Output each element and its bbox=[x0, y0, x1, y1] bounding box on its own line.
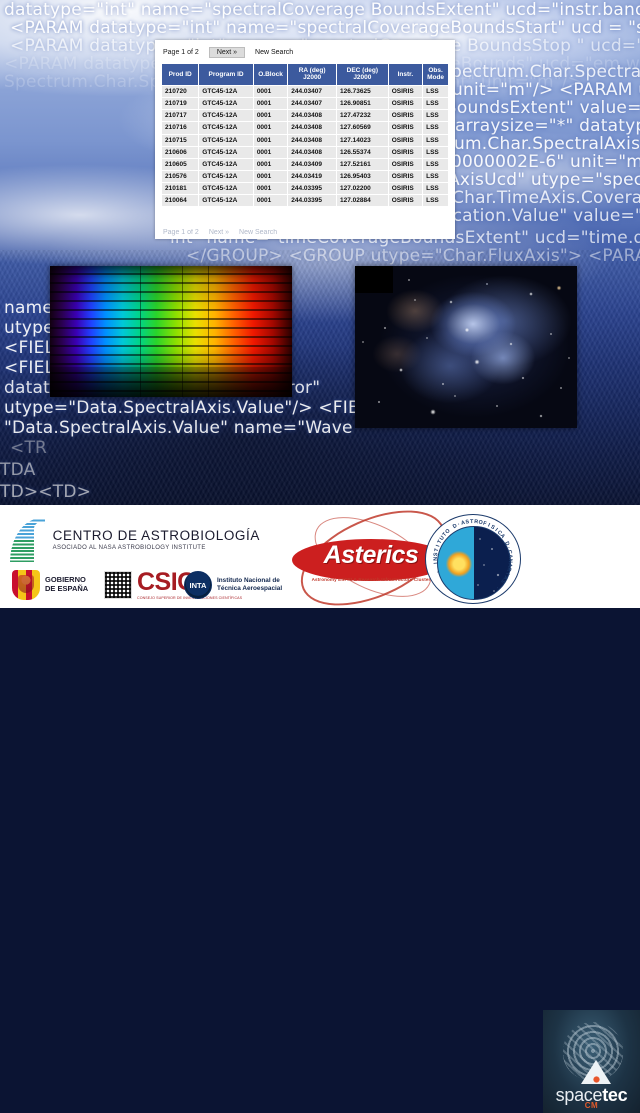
spectrum-image[interactable] bbox=[50, 266, 292, 397]
sponsor-logo-bar: CENTRO DE ASTROBIOLOGÍA ASOCIADO AL NASA… bbox=[0, 505, 640, 608]
table-cell: 127.52161 bbox=[337, 158, 389, 170]
table-cell: 244.03395 bbox=[288, 195, 337, 207]
cab-arch-icon bbox=[10, 516, 45, 562]
table-cell: 127.02884 bbox=[337, 195, 389, 207]
table-cell: OSIRIS bbox=[388, 195, 422, 207]
table-cell: GTC45-12A bbox=[199, 122, 254, 134]
table-cell: LSS bbox=[423, 98, 449, 110]
table-cell: LSS bbox=[423, 183, 449, 195]
col-instrument[interactable]: Instr. bbox=[388, 64, 422, 86]
inta-line1: Instituto Nacional de bbox=[217, 577, 282, 585]
iac-ring-char: R bbox=[505, 567, 512, 572]
iac-ring-char: S bbox=[465, 519, 469, 525]
col-label: RA (deg) J2000 bbox=[299, 67, 326, 81]
table-cell: OSIRIS bbox=[388, 158, 422, 170]
page-indicator: Page 1 of 2 bbox=[163, 49, 199, 56]
table-cell: OSIRIS bbox=[388, 110, 422, 122]
table-cell: 0001 bbox=[253, 170, 287, 182]
table-row[interactable]: 210064GTC45-12A0001244.03395127.02884OSI… bbox=[162, 195, 449, 207]
table-cell: LSS bbox=[423, 195, 449, 207]
col-program-id[interactable]: Program ID bbox=[199, 64, 254, 86]
table-cell: 244.03408 bbox=[288, 134, 337, 146]
table-cell: 0001 bbox=[253, 134, 287, 146]
table-row[interactable]: 210719GTC45-12A0001244.03407126.90851OSI… bbox=[162, 98, 449, 110]
table-row[interactable]: 210716GTC45-12A0001244.03408127.60569OSI… bbox=[162, 122, 449, 134]
spain-coat-of-arms-icon bbox=[12, 570, 40, 600]
iac-ring-char: · bbox=[494, 584, 499, 590]
table-cell: 126.90851 bbox=[337, 98, 389, 110]
table-cell: 210064 bbox=[162, 195, 199, 207]
footer-page-indicator: Page 1 of 2 bbox=[163, 229, 199, 236]
spacetec-cm-label: CM bbox=[543, 1102, 640, 1110]
table-cell: 0001 bbox=[253, 183, 287, 195]
table-cell: 244.03419 bbox=[288, 170, 337, 182]
table-cell: GTC45-12A bbox=[199, 183, 254, 195]
col-prod-id[interactable]: Prod ID bbox=[162, 64, 199, 86]
table-cell: 127.47232 bbox=[337, 110, 389, 122]
table-row[interactable]: 210181GTC45-12A0001244.03395127.02200OSI… bbox=[162, 183, 449, 195]
table-cell: 210716 bbox=[162, 122, 199, 134]
table-cell: 210719 bbox=[162, 98, 199, 110]
cab-title: CENTRO DE ASTROBIOLOGÍA bbox=[53, 528, 260, 543]
col-label: O.Block bbox=[258, 71, 283, 78]
table-cell: GTC45-12A bbox=[199, 195, 254, 207]
iac-ring-char: N bbox=[433, 557, 439, 561]
col-label: Program ID bbox=[209, 71, 244, 78]
cab-subtitle: ASOCIADO AL NASA ASTROBIOLOGY INSTITUTE bbox=[53, 545, 260, 551]
table-cell: 0001 bbox=[253, 85, 287, 97]
gobierno-line2: DE ESPAÑA bbox=[45, 585, 88, 594]
next-page-button[interactable]: Next » bbox=[209, 47, 245, 58]
logo-gobierno-de-espana[interactable]: GOBIERNO DE ESPAÑA bbox=[12, 569, 100, 601]
col-dec[interactable]: DEC (deg) J2000 bbox=[337, 64, 389, 86]
nebula-image[interactable] bbox=[355, 266, 577, 428]
footer-next-button[interactable]: Next » bbox=[209, 229, 229, 236]
results-table: Prod ID Program ID O.Block RA (deg) J200… bbox=[161, 63, 449, 207]
iac-ring-char: I bbox=[435, 544, 441, 548]
logo-iac[interactable]: · INSTITUTO D·ASTROFISICA D·CANARIAS · bbox=[425, 514, 521, 604]
inta-line2: Técnica Aeroespacial bbox=[217, 585, 282, 593]
col-obs-mode[interactable]: Obs. Mode bbox=[423, 64, 449, 86]
table-row[interactable]: 210605GTC45-12A0001244.03409127.52161OSI… bbox=[162, 158, 449, 170]
table-cell: OSIRIS bbox=[388, 85, 422, 97]
table-cell: LSS bbox=[423, 134, 449, 146]
table-cell: 0001 bbox=[253, 110, 287, 122]
table-cell: 126.95403 bbox=[337, 170, 389, 182]
table-cell: GTC45-12A bbox=[199, 146, 254, 158]
logo-centro-de-astrobiologia[interactable]: CENTRO DE ASTROBIOLOGÍA ASOCIADO AL NASA… bbox=[10, 515, 260, 563]
inta-mark-icon: INTA bbox=[184, 571, 212, 599]
table-cell: LSS bbox=[423, 170, 449, 182]
table-cell: 244.03409 bbox=[288, 158, 337, 170]
table-cell: LSS bbox=[423, 85, 449, 97]
iac-ring-char: S bbox=[433, 552, 439, 556]
table-cell: 0001 bbox=[253, 158, 287, 170]
col-label: Obs. Mode bbox=[427, 67, 444, 81]
table-cell: LSS bbox=[423, 158, 449, 170]
nebula-masked-corner bbox=[355, 266, 393, 293]
table-row[interactable]: 210717GTC45-12A0001244.03408127.47232OSI… bbox=[162, 110, 449, 122]
table-cell: 210576 bbox=[162, 170, 199, 182]
table-cell: 210715 bbox=[162, 134, 199, 146]
iac-ring-char: · bbox=[435, 570, 441, 574]
col-label: Prod ID bbox=[169, 71, 192, 78]
query-results-panel: Page 1 of 2 Next » New Search Prod ID Pr… bbox=[155, 40, 455, 239]
table-cell: 210606 bbox=[162, 146, 199, 158]
table-cell: 0001 bbox=[253, 98, 287, 110]
spectrum-lower-band bbox=[50, 367, 292, 397]
table-cell: 244.03408 bbox=[288, 110, 337, 122]
table-cell: 244.03395 bbox=[288, 183, 337, 195]
table-cell: GTC45-12A bbox=[199, 85, 254, 97]
table-cell: 0001 bbox=[253, 195, 287, 207]
table-cell: OSIRIS bbox=[388, 122, 422, 134]
table-cell: 210605 bbox=[162, 158, 199, 170]
footer-new-search-link[interactable]: New Search bbox=[239, 229, 277, 236]
table-cell: 127.60569 bbox=[337, 122, 389, 134]
table-cell: 210717 bbox=[162, 110, 199, 122]
col-ra[interactable]: RA (deg) J2000 bbox=[288, 64, 337, 86]
table-cell: 244.03408 bbox=[288, 146, 337, 158]
table-cell: GTC45-12A bbox=[199, 170, 254, 182]
table-cell: 126.55374 bbox=[337, 146, 389, 158]
new-search-link[interactable]: New Search bbox=[255, 49, 293, 56]
table-row[interactable]: 210715GTC45-12A0001244.03408127.14023OSI… bbox=[162, 134, 449, 146]
table-row[interactable]: 210606GTC45-12A0001244.03408126.55374OSI… bbox=[162, 146, 449, 158]
table-cell: 244.03407 bbox=[288, 85, 337, 97]
table-cell: OSIRIS bbox=[388, 146, 422, 158]
table-cell: 210181 bbox=[162, 183, 199, 195]
table-row[interactable]: 210576GTC45-12A0001244.03419126.95403OSI… bbox=[162, 170, 449, 182]
table-cell: 127.14023 bbox=[337, 134, 389, 146]
table-cell: 0001 bbox=[253, 122, 287, 134]
iac-ring-char bbox=[434, 566, 440, 569]
iac-ring-char: I bbox=[433, 562, 439, 564]
results-footer: Page 1 of 2 Next » New Search bbox=[155, 225, 455, 239]
table-cell: OSIRIS bbox=[388, 170, 422, 182]
table-cell: 210720 bbox=[162, 85, 199, 97]
table-cell: 126.73625 bbox=[337, 85, 389, 97]
table-cell: GTC45-12A bbox=[199, 158, 254, 170]
table-cell: 0001 bbox=[253, 146, 287, 158]
table-cell: LSS bbox=[423, 110, 449, 122]
table-cell: OSIRIS bbox=[388, 183, 422, 195]
table-cell: 244.03408 bbox=[288, 122, 337, 134]
table-cell: OSIRIS bbox=[388, 134, 422, 146]
col-label: Instr. bbox=[398, 71, 414, 78]
col-oblock[interactable]: O.Block bbox=[253, 64, 287, 86]
table-cell: 127.02200 bbox=[337, 183, 389, 195]
csic-mark-icon bbox=[104, 571, 132, 599]
table-cell: OSIRIS bbox=[388, 98, 422, 110]
table-row[interactable]: 210720GTC45-12A0001244.03407126.73625OSI… bbox=[162, 85, 449, 97]
col-label: DEC (deg) J2000 bbox=[347, 67, 378, 81]
table-cell: LSS bbox=[423, 122, 449, 134]
results-table-body: 210720GTC45-12A0001244.03407126.73625OSI… bbox=[162, 85, 449, 206]
table-cell: LSS bbox=[423, 146, 449, 158]
iac-ring-text: · INSTITUTO D·ASTROFISICA D·CANARIAS · bbox=[425, 514, 521, 604]
table-header-row: Prod ID Program ID O.Block RA (deg) J200… bbox=[162, 64, 449, 86]
table-cell: GTC45-12A bbox=[199, 110, 254, 122]
table-cell: GTC45-12A bbox=[199, 134, 254, 146]
logo-spacetec-cm[interactable]: spacetec CM bbox=[543, 1010, 640, 1113]
table-cell: GTC45-12A bbox=[199, 98, 254, 110]
results-toolbar: Page 1 of 2 Next » New Search bbox=[155, 40, 455, 61]
table-cell: 244.03407 bbox=[288, 98, 337, 110]
spacetec-spark-icon bbox=[593, 1076, 600, 1083]
